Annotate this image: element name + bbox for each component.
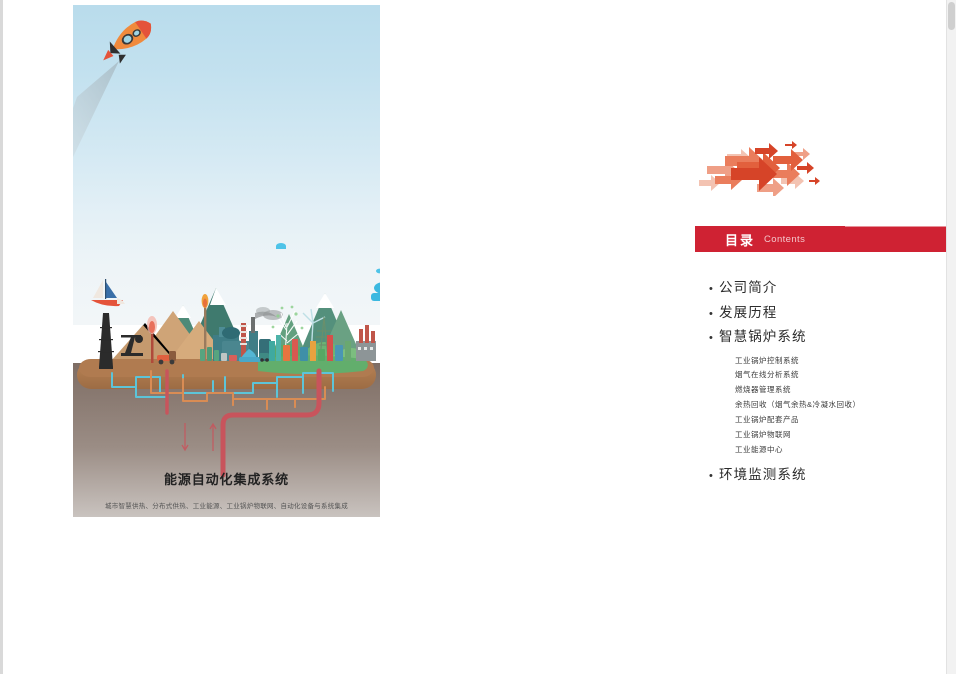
toc-item-environmental-monitoring[interactable]: • 环境监测系统 — [709, 467, 956, 483]
toc-subitem[interactable]: 工业锅炉物联网 — [735, 428, 956, 443]
energy-infrastructure-illustration — [73, 5, 380, 517]
toc-sublist-smart-boiler: 工业锅炉控制系统 烟气在线分析系统 燃烧器管理系统 余热回收（烟气余热&冷凝水回… — [709, 354, 956, 458]
sailboat-icon — [91, 279, 125, 306]
contents-title-en: Contents — [764, 234, 805, 245]
poster-subtitle: 城市智慧供热、分布式供热、工业能源、工业锅炉物联网、自动化设备与系统集成 — [73, 502, 380, 511]
toc-item-label: 智慧锅炉系统 — [719, 329, 807, 345]
toc-subitem[interactable]: 余热回收（烟气余热&冷凝水回收） — [735, 398, 956, 413]
cloud-icon — [371, 282, 380, 301]
bullet-icon: • — [709, 284, 719, 295]
rocket-trail — [73, 61, 119, 295]
oil-derrick-icon — [98, 313, 114, 369]
toc-item-label: 公司简介 — [719, 280, 777, 296]
poster-caption: 能源自动化集成系统 城市智慧供热、分布式供热、工业能源、工业锅炉物联网、自动化设… — [73, 472, 380, 511]
contents-panel: 目录 Contents • 公司简介 • 发展历程 • 智慧锅炉系统 工业锅炉控… — [695, 140, 956, 492]
toc-item-history[interactable]: • 发展历程 — [709, 305, 956, 321]
toc-subitem[interactable]: 烟气在线分析系统 — [735, 368, 956, 383]
contents-title-cn: 目录 — [725, 230, 755, 249]
toc-item-label: 环境监测系统 — [719, 467, 807, 483]
bullet-icon: • — [709, 471, 719, 482]
toc-subitem[interactable]: 工业锅炉控制系统 — [735, 354, 956, 369]
bullet-icon: • — [709, 309, 719, 320]
rocket-icon — [95, 15, 159, 70]
cloud-icon — [276, 243, 380, 273]
contents-list: • 公司简介 • 发展历程 • 智慧锅炉系统 工业锅炉控制系统 烟气在线分析系统… — [695, 280, 956, 483]
toc-item-company-intro[interactable]: • 公司简介 — [709, 280, 956, 296]
contents-banner: 目录 Contents — [695, 226, 956, 252]
toc-item-label: 发展历程 — [719, 305, 777, 321]
scrollbar-thumb[interactable] — [948, 2, 955, 30]
toc-item-smart-boiler-system[interactable]: • 智慧锅炉系统 — [709, 329, 956, 345]
poster-title: 能源自动化集成系统 — [73, 472, 380, 488]
arrows-logo — [697, 140, 821, 196]
poster-canvas — [73, 5, 380, 517]
bullet-icon: • — [709, 333, 719, 344]
cover-poster — [73, 5, 380, 517]
document-page: 能源自动化集成系统 城市智慧供热、分布式供热、工业能源、工业锅炉物联网、自动化设… — [0, 0, 956, 674]
factory-icon — [356, 325, 376, 361]
vertical-scrollbar[interactable] — [946, 0, 956, 674]
toc-subitem[interactable]: 燃烧器管理系统 — [735, 383, 956, 398]
toc-subitem[interactable]: 工业锅炉配套产品 — [735, 413, 956, 428]
toc-subitem[interactable]: 工业能源中心 — [735, 443, 956, 458]
